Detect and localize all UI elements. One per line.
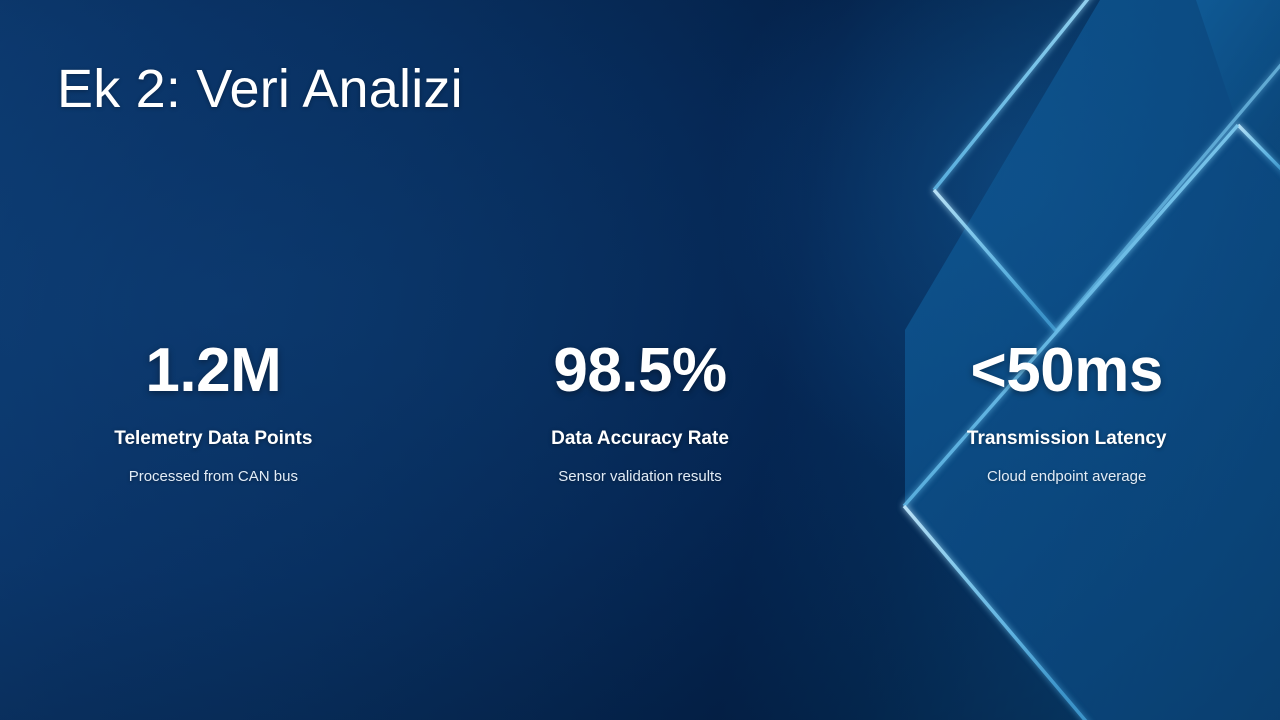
- stat-card-telemetry: 1.2M Telemetry Data Points Processed fro…: [0, 340, 427, 486]
- stat-value: <50ms: [865, 340, 1268, 402]
- stats-row: 1.2M Telemetry Data Points Processed fro…: [0, 340, 1280, 486]
- page-title: Ek 2: Veri Analizi: [57, 58, 463, 120]
- stat-description: Sensor validation results: [439, 468, 842, 486]
- stat-description: Processed from CAN bus: [12, 468, 415, 486]
- stat-label: Transmission Latency: [865, 428, 1268, 451]
- stat-label: Telemetry Data Points: [12, 428, 415, 451]
- stat-label: Data Accuracy Rate: [439, 428, 842, 451]
- stat-card-latency: <50ms Transmission Latency Cloud endpoin…: [853, 340, 1280, 486]
- stat-value: 1.2M: [12, 340, 415, 402]
- slide-canvas: Ek 2: Veri Analizi 1.2M Telemetry Data P…: [0, 0, 1280, 720]
- stat-card-accuracy: 98.5% Data Accuracy Rate Sensor validati…: [427, 340, 854, 486]
- stat-value: 98.5%: [439, 340, 842, 402]
- stat-description: Cloud endpoint average: [865, 468, 1268, 486]
